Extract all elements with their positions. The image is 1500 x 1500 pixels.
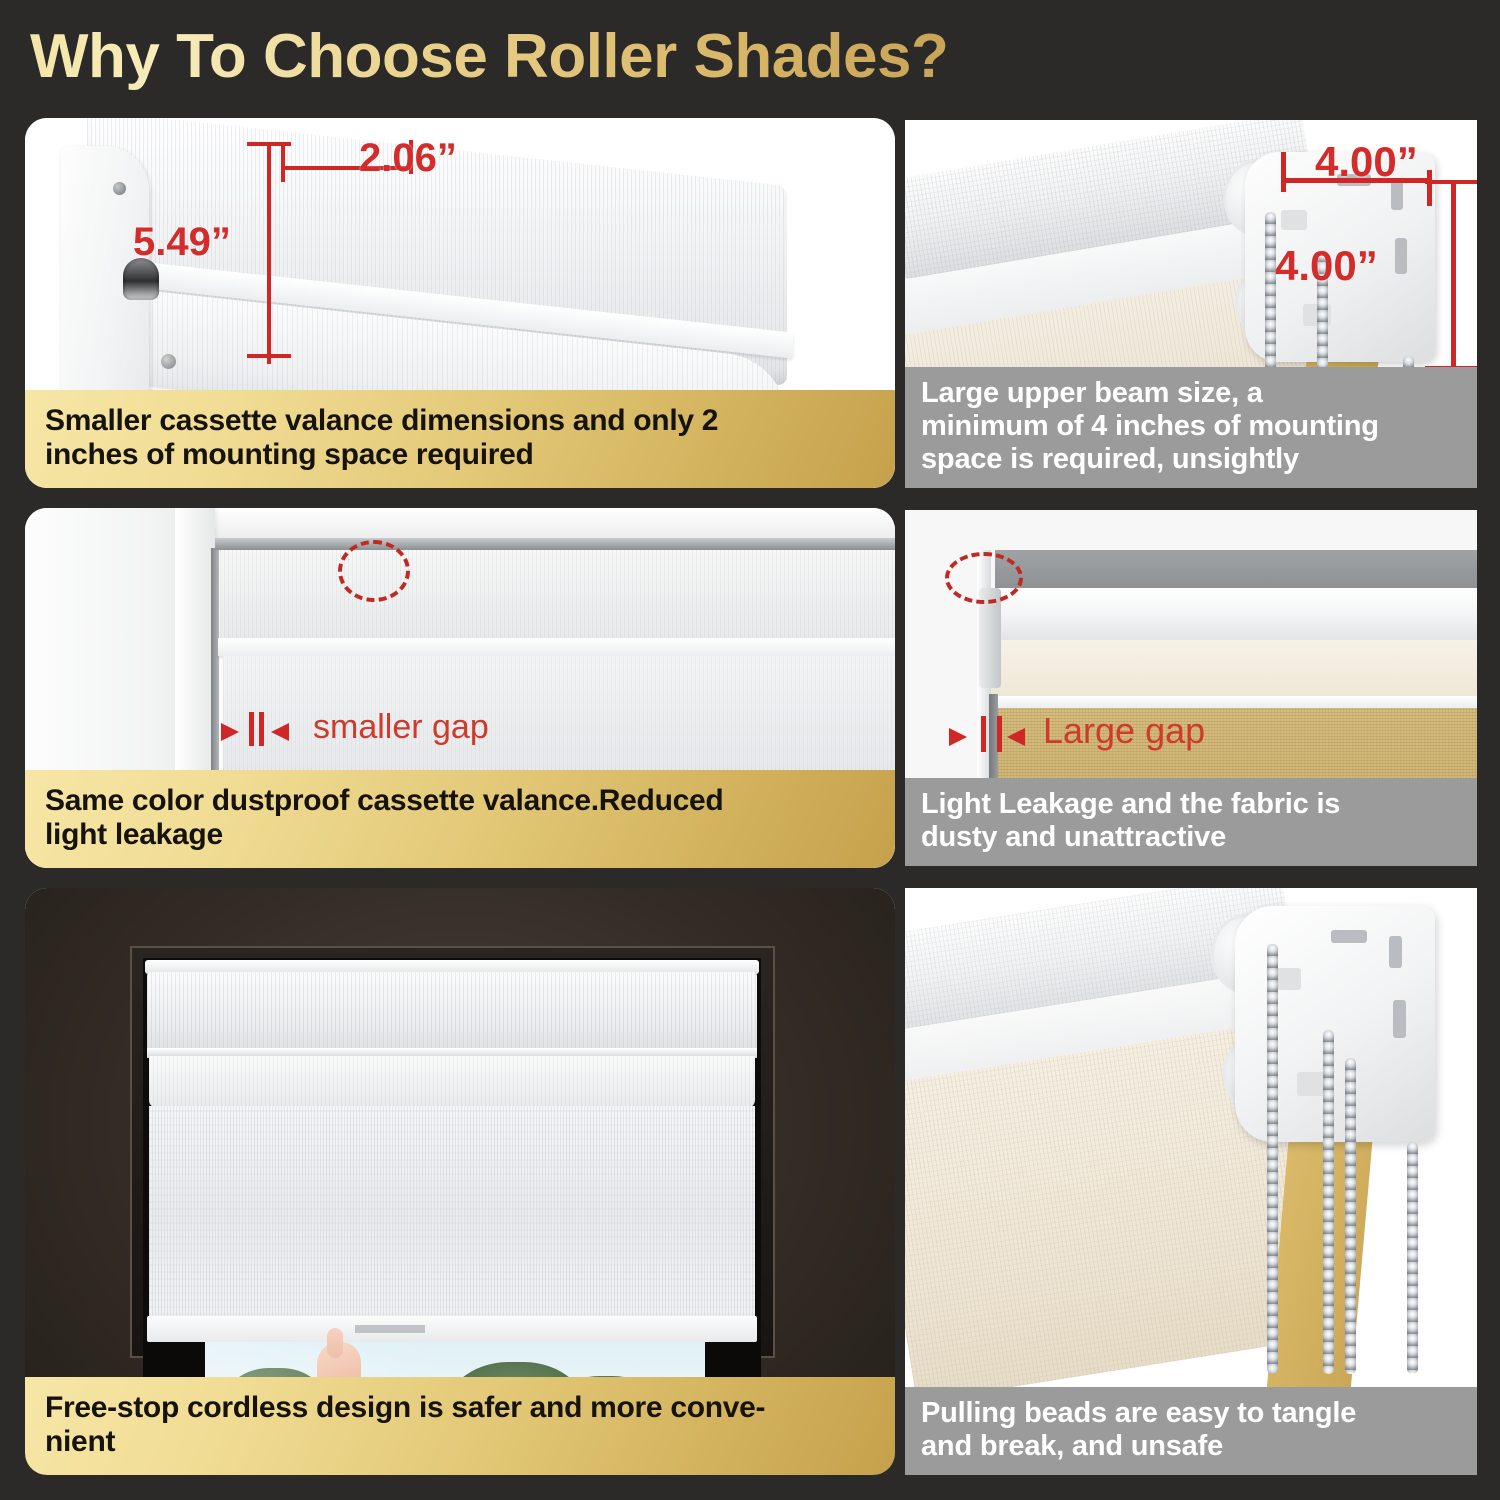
panel-bottom-right: Pulling beads are easy to tangle and bre… [905, 888, 1477, 1475]
height-dimension-tick-bottom [247, 354, 291, 358]
beam-height-tick-top [1425, 180, 1477, 184]
width-dimension-label: 2.06” [359, 136, 457, 181]
bead-chain-4 [1407, 1142, 1418, 1374]
bracket-slot-lower [1395, 238, 1407, 274]
bracket-emboss-upper [1281, 210, 1307, 230]
highlight-ellipse [945, 552, 1023, 604]
gap-arrow-left [221, 723, 239, 741]
bead-chain-3 [1345, 1058, 1356, 1374]
bead-chain-1 [1267, 944, 1278, 1374]
screw-top-icon [113, 182, 126, 195]
beam-height-dimension-line [1451, 182, 1456, 370]
beam-width-tick-right [1427, 170, 1432, 206]
panel-top-left: 2.06” 5.49” Smaller cassette valance dim… [25, 118, 895, 488]
panel-bottom-left: Free-stop cordless design is safer and m… [25, 888, 895, 1475]
panel-mid-right: Large gap Light Leakage and the fabric i… [905, 510, 1477, 866]
caption-mid-left: Same color dustproof cassette valance.Re… [25, 770, 895, 868]
width-dimension-tick-left [281, 146, 285, 182]
caption-bottom-left: Free-stop cordless design is safer and m… [25, 1377, 895, 1475]
panel-top-right: 4.00” 4.00” Large upper beam size, a min… [905, 120, 1477, 488]
cassette-valance [147, 972, 757, 1052]
infographic-root: Why To Choose Roller Shades? 2.06” [0, 0, 1500, 1500]
bead-chain-2 [1323, 1030, 1334, 1374]
gap-tick-left [249, 712, 254, 746]
panel-mid-left: smaller gap Same color dustproof cassett… [25, 508, 895, 868]
mounting-bracket [1235, 906, 1435, 1142]
bracket-slot-right [1389, 936, 1402, 968]
beam-height-dimension-label: 4.00” [1275, 242, 1378, 290]
beam-width-tick-left [1281, 152, 1286, 192]
shade-fabric [149, 1106, 755, 1322]
roller-tube [983, 588, 1477, 644]
highlight-ellipse [338, 540, 410, 602]
gap-arrow-left [949, 728, 967, 746]
gap-shadow [211, 548, 219, 778]
finger [327, 1328, 343, 1358]
caption-top-right: Large upper beam size, a minimum of 4 in… [905, 367, 1477, 488]
shade-fabric-upper [220, 550, 895, 638]
large-gap-label: Large gap [1043, 710, 1205, 752]
cream-valance [987, 640, 1477, 698]
gap-arrow-right [271, 723, 289, 741]
brand-logo [355, 1325, 425, 1333]
gap-tick-left [981, 716, 986, 752]
height-dimension-label: 5.49” [133, 220, 231, 265]
caption-mid-right: Light Leakage and the fabric is dusty an… [905, 778, 1477, 866]
caption-bottom-right: Pulling beads are easy to tangle and bre… [905, 1387, 1477, 1475]
gap-arrow-right [1007, 728, 1025, 746]
caption-top-left: Smaller cassette valance dimensions and … [25, 390, 895, 488]
height-dimension-line-lower [267, 246, 271, 358]
page-title: Why To Choose Roller Shades? [30, 18, 1130, 96]
gap-tick-right [997, 716, 1002, 752]
roller-tube [149, 1056, 755, 1108]
bracket-slot-lower [1393, 1000, 1406, 1038]
beam-width-dimension-label: 4.00” [1315, 138, 1418, 186]
cassette-head-edge [215, 538, 895, 550]
screw-icon [161, 354, 176, 369]
gap-tick-right [259, 712, 264, 746]
bottom-rail [147, 1316, 757, 1342]
height-dimension-tick-top [247, 142, 291, 146]
bracket-slot-top [1331, 930, 1367, 943]
cassette-rail [218, 638, 895, 656]
smaller-gap-label: smaller gap [313, 708, 489, 747]
